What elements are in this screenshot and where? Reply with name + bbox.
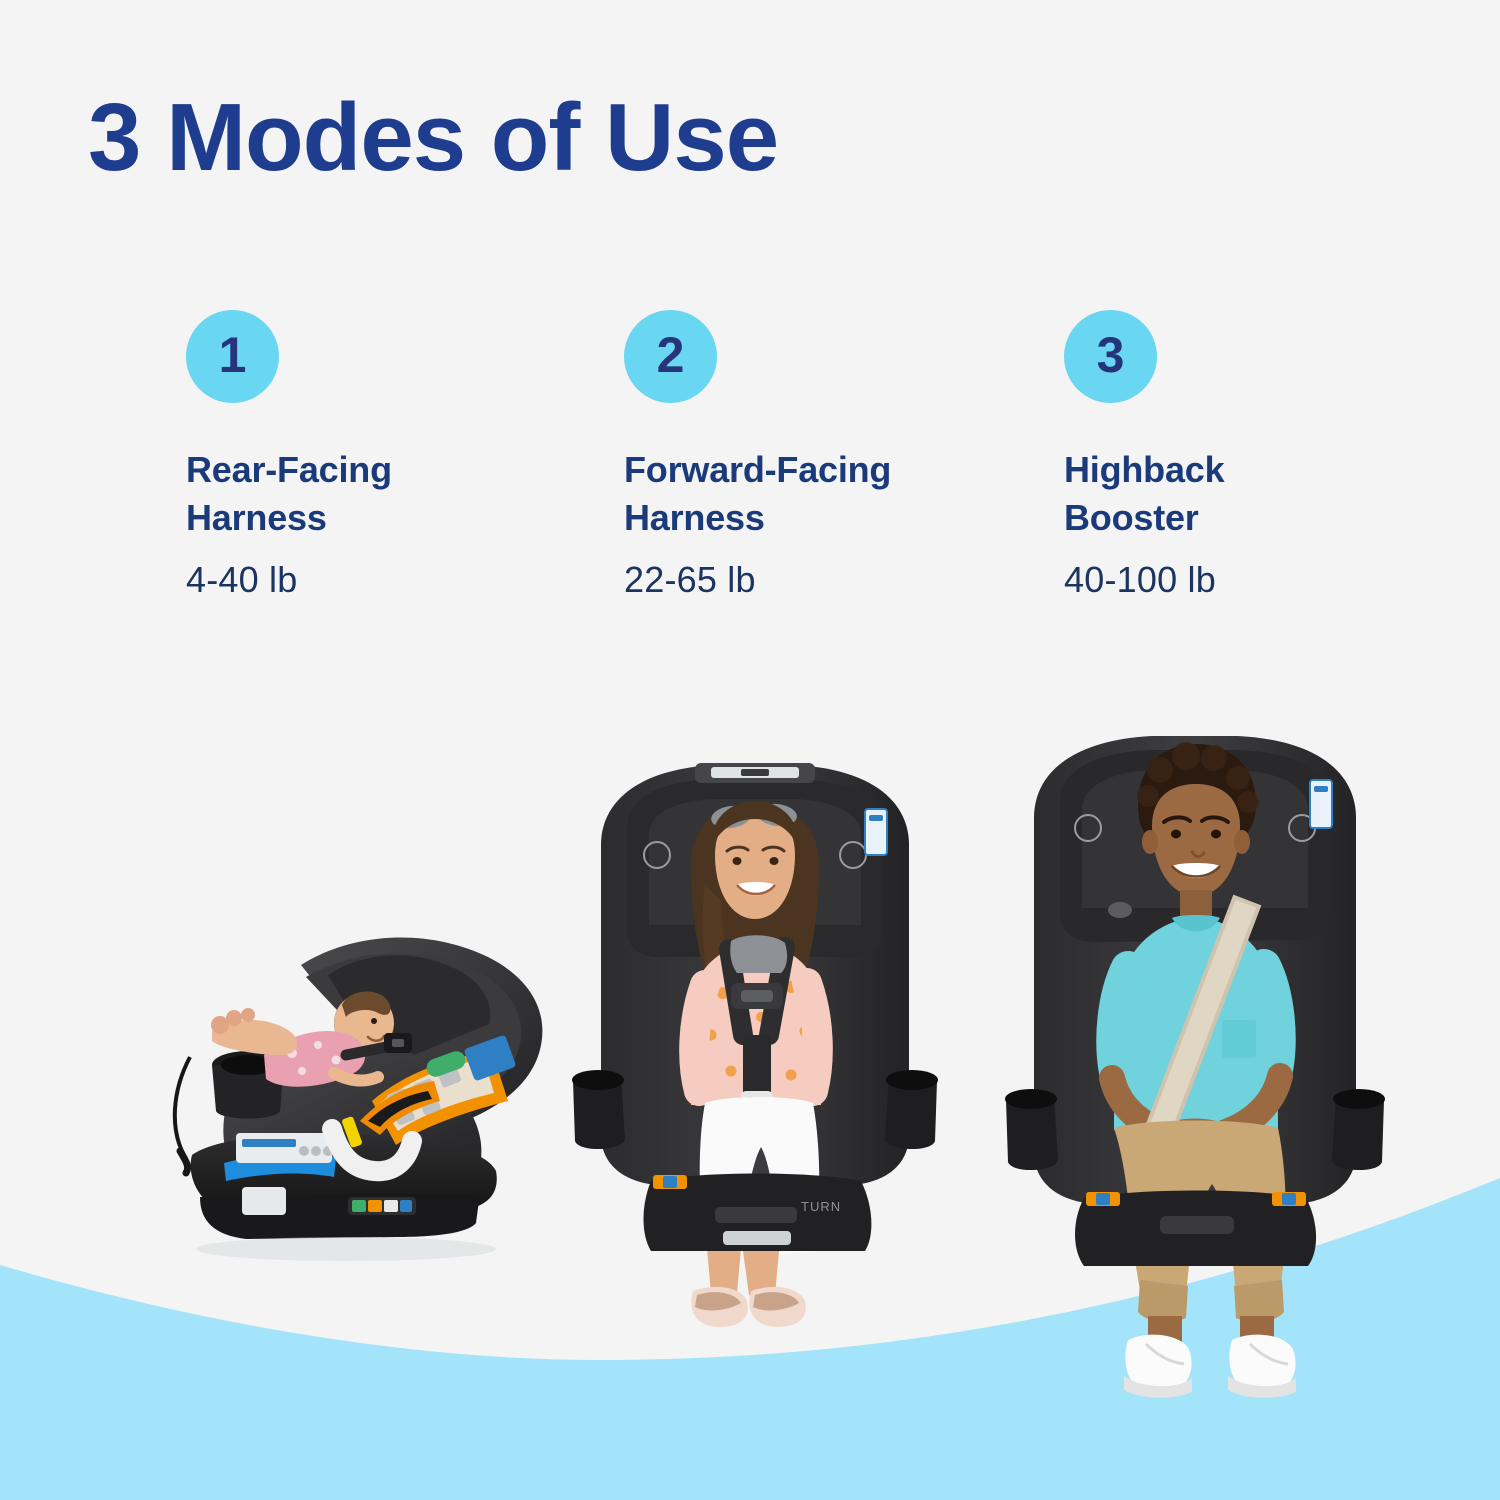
step-badge-2: 2 [624, 310, 717, 403]
mode-title-2: Forward-Facing Harness [624, 446, 1044, 541]
sneakers-white [1124, 1335, 1296, 1398]
photo-forward-facing-seat: TURN [565, 735, 945, 1375]
shoes-rose [691, 1287, 806, 1327]
infographic-canvas: 3 Modes of Use 1 Rear-Facing Harness 4-4… [0, 0, 1500, 1500]
step-badge-3: 3 [1064, 310, 1157, 403]
svg-text:TURN: TURN [801, 1199, 841, 1214]
mode-weight-3: 40-100 lb [1064, 557, 1484, 602]
mode-title-1: Rear-Facing Harness [186, 446, 606, 541]
step-badge-1: 1 [186, 310, 279, 403]
seat-base-2: TURN [644, 1174, 872, 1252]
photo-highback-booster [1000, 700, 1390, 1440]
mode-item-rear-facing: 1 Rear-Facing Harness 4-40 lb [186, 310, 606, 602]
mode-weight-1: 4-40 lb [186, 557, 606, 602]
step-number-2: 2 [657, 330, 685, 383]
page-title: 3 Modes of Use [88, 88, 778, 189]
mode-item-highback-booster: 3 Highback Booster 40-100 lb [1064, 310, 1484, 602]
step-number-1: 1 [219, 330, 247, 383]
photo-rear-facing-seat [96, 905, 566, 1275]
mode-item-forward-facing: 2 Forward-Facing Harness 22-65 lb [624, 310, 1044, 602]
seat-base-3 [1075, 1191, 1316, 1267]
step-number-3: 3 [1097, 330, 1125, 383]
mode-weight-2: 22-65 lb [624, 557, 1044, 602]
mode-title-3: Highback Booster [1064, 446, 1484, 541]
modes-list: 1 Rear-Facing Harness 4-40 lb 2 Forward-… [0, 310, 1500, 610]
